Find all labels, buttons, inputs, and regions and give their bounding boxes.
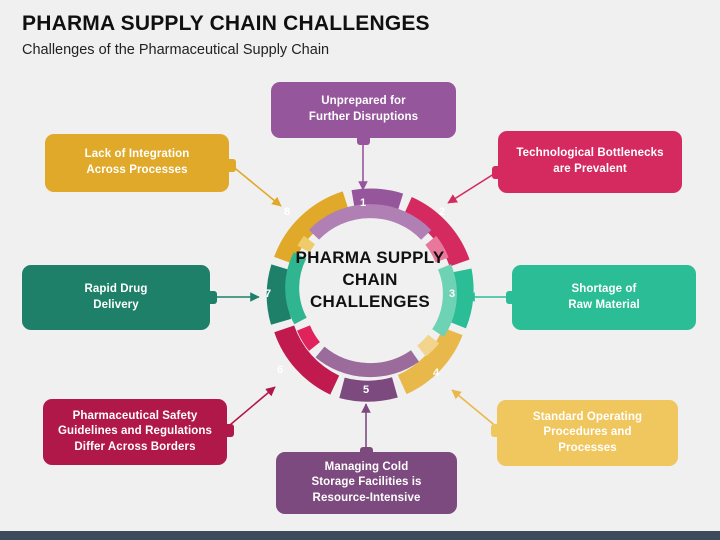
callout-7-line-2: Delivery (85, 298, 148, 314)
callout-box-unprepared[interactable]: Unprepared for Further Disruptions (271, 82, 456, 138)
center-line-3: CHALLENGES (310, 292, 430, 311)
segment-number-4: 4 (428, 367, 444, 379)
callout-box-standard-operating-procedures[interactable]: Standard Operating Procedures and Proces… (497, 400, 678, 466)
callout-4-line-1: Standard Operating (533, 410, 642, 426)
callout-8-line-1: Lack of Integration (85, 147, 190, 163)
callout-5-tail (360, 447, 373, 460)
callout-5-line-3: Resource-Intensive (311, 491, 421, 507)
callout-6-line-1: Pharmaceutical Safety (58, 409, 212, 425)
callout-4-line-2: Procedures and (533, 425, 642, 441)
callout-2-line-2: are Prevalent (516, 162, 663, 178)
callout-3-line-2: Raw Material (568, 298, 640, 314)
donut-segment-6-inner[interactable] (304, 328, 315, 347)
callout-box-raw-material-shortage[interactable]: Shortage of Raw Material (512, 265, 696, 330)
segment-number-5: 5 (358, 384, 374, 396)
footer-bar (0, 531, 720, 540)
callout-8-tail (223, 159, 236, 172)
callout-6-line-2: Guidelines and Regulations (58, 424, 212, 440)
callout-3-line-1: Shortage of (568, 282, 640, 298)
callout-2-line-1: Technological Bottlenecks (516, 146, 663, 162)
donut-segment-1-inner[interactable] (314, 211, 426, 235)
segment-number-8: 8 (279, 206, 295, 218)
segment-number-3: 3 (444, 288, 460, 300)
segment-number-2: 2 (434, 206, 450, 218)
center-line-1: PHARMA (295, 248, 371, 267)
callout-box-rapid-drug-delivery[interactable]: Rapid Drug Delivery (22, 265, 210, 330)
segment-number-1: 1 (355, 197, 371, 209)
donut-center-label: PHARMA SUPPLY CHAIN CHALLENGES (295, 247, 445, 312)
segment-number-6: 6 (272, 364, 288, 376)
callout-4-tail (491, 424, 504, 437)
callout-7-line-1: Rapid Drug (85, 282, 148, 298)
callout-5-line-2: Storage Facilities is (311, 475, 421, 491)
callout-box-cold-storage[interactable]: Managing Cold Storage Facilities is Reso… (276, 452, 457, 514)
callout-1-tail (357, 132, 370, 145)
callout-2-tail (492, 166, 505, 179)
callout-7-tail (204, 291, 217, 304)
callout-1-line-1: Unprepared for (309, 94, 418, 110)
callout-box-lack-of-integration[interactable]: Lack of Integration Across Processes (45, 134, 229, 192)
callout-5-line-1: Managing Cold (311, 460, 421, 476)
callout-3-tail (506, 291, 519, 304)
callout-4-line-3: Processes (533, 441, 642, 457)
donut-segment-7-outer[interactable] (277, 267, 281, 321)
segment-number-7: 7 (260, 288, 276, 300)
callout-8-line-2: Across Processes (85, 163, 190, 179)
infographic-canvas: PHARMA SUPPLY CHAIN CHALLENGES Challenge… (0, 0, 720, 540)
donut-segment-4-inner[interactable] (422, 339, 434, 351)
callout-1-line-2: Further Disruptions (309, 110, 418, 126)
callout-box-technological-bottlenecks[interactable]: Technological Bottlenecks are Prevalent (498, 131, 682, 193)
callout-6-tail (221, 424, 234, 437)
callout-box-safety-guidelines[interactable]: Pharmaceutical Safety Guidelines and Reg… (43, 399, 227, 465)
callout-6-line-3: Differ Across Borders (58, 440, 212, 456)
